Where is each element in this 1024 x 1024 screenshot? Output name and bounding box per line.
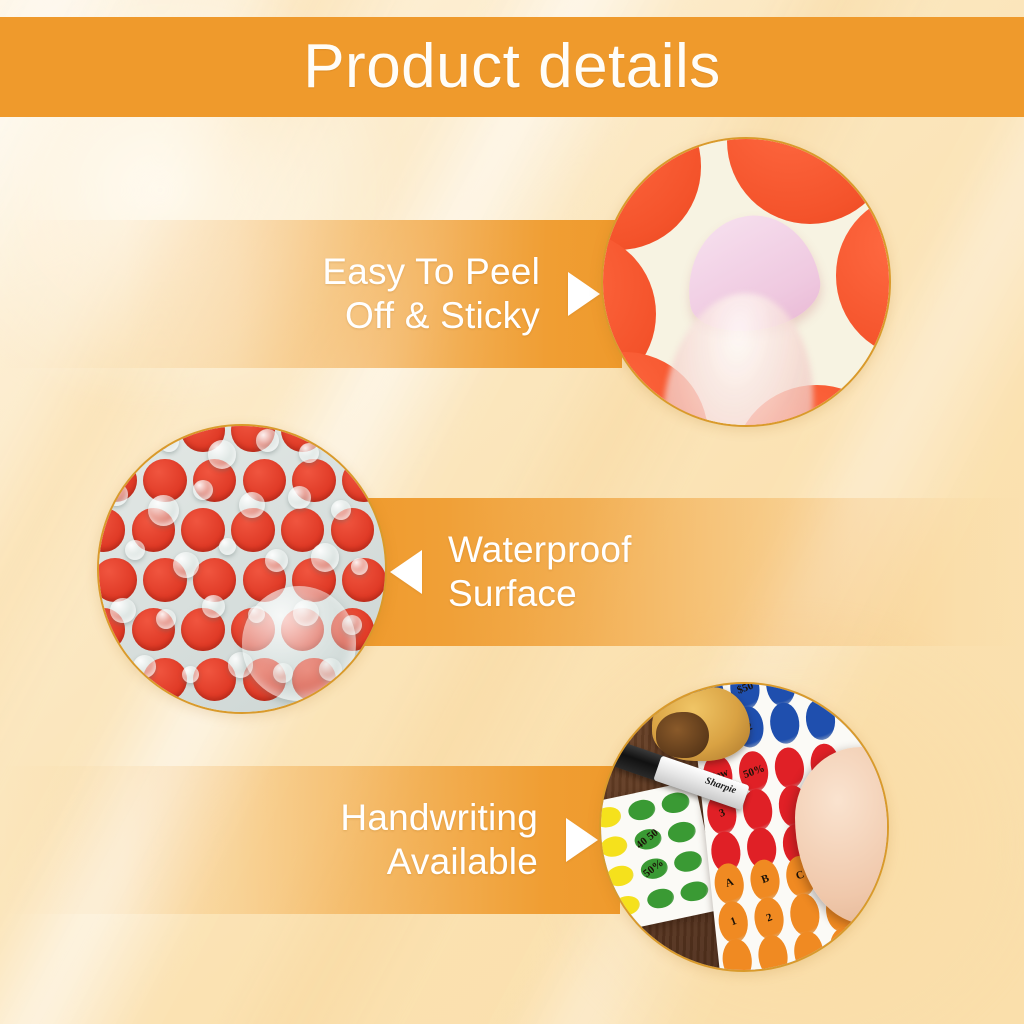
sticker-dot (768, 702, 801, 746)
sticker-dot (604, 864, 635, 889)
handwritten-label: B (760, 874, 771, 887)
handwritten-label: 3 (718, 808, 727, 820)
sticker-dot (672, 850, 703, 875)
feature-label-handwriting-available: Handwriting Available (340, 796, 538, 883)
peeling-sticker-photo (601, 137, 891, 427)
sticker-dot: 1 (717, 900, 750, 944)
page-title-bar: Product details (0, 17, 1024, 117)
water-droplet (148, 495, 179, 526)
product-details-infographic: Product details Easy To Peel Off & Stick… (0, 0, 1024, 1024)
sticker-dot (803, 698, 836, 742)
triangle-right-icon (568, 272, 600, 316)
feature-band-easy-to-peel: Easy To Peel Off & Sticky (0, 220, 622, 368)
sticker-dot (788, 893, 821, 937)
feature-label-waterproof-surface: Waterproof Surface (448, 528, 632, 615)
sticker-dot (721, 938, 754, 972)
feature-label-easy-to-peel: Easy To Peel Off & Sticky (322, 250, 540, 337)
handwritten-label: 2 (765, 913, 774, 925)
waterproof-dot (97, 658, 137, 701)
waterproof-dot (342, 459, 385, 502)
waterproof-droplets-photo (97, 424, 387, 714)
water-droplet (202, 595, 225, 618)
toy-lion-figure (652, 687, 749, 761)
water-droplet (265, 549, 288, 572)
water-droplet (159, 432, 179, 452)
handwritten-label: 1 (729, 916, 738, 928)
sticker-dot (626, 798, 657, 823)
sticker-dot (679, 879, 710, 904)
handwritten-label: $50 (735, 682, 754, 697)
sticker-dot: 50% (638, 857, 669, 882)
sticker-dot (828, 927, 861, 971)
water-droplet (351, 558, 368, 575)
sticker-dot (601, 137, 701, 250)
triangle-right-icon (566, 818, 598, 862)
water-droplet (219, 538, 236, 555)
water-droplet (133, 655, 156, 678)
water-droplet (239, 492, 265, 518)
water-droplet (339, 435, 365, 461)
sticker-dot (660, 790, 691, 815)
sticker-dot (757, 935, 790, 972)
sticker-dot (861, 372, 891, 427)
triangle-left-icon (390, 550, 422, 594)
handwritten-label: 40 50 (634, 828, 660, 852)
feature-label-line2: Available (340, 840, 538, 884)
sticker-dot: B (749, 858, 782, 902)
waterproof-dot (97, 508, 125, 551)
page-title: Product details (303, 36, 721, 98)
water-droplet (256, 429, 279, 452)
feature-band-handwriting-available: Handwriting Available (0, 766, 620, 914)
water-droplet (173, 552, 199, 578)
water-droplet (105, 483, 128, 506)
waterproof-dot (97, 558, 137, 601)
sticker-dot: A (713, 862, 746, 906)
sticker-dot (666, 820, 697, 845)
sticker-dot (599, 901, 608, 926)
toy-lion-mane (656, 712, 709, 758)
handwritten-label: 50% (741, 763, 765, 781)
handwriting-dots-photo: 240 50one50% 50%$5012New50%3ABC12 Sharpi… (599, 682, 889, 972)
sticker-dot (599, 805, 623, 830)
sticker-dot (836, 192, 891, 359)
sticker-dot (611, 894, 642, 919)
sticker-dot (599, 834, 629, 859)
water-droplet (331, 500, 351, 520)
water-droplet (125, 540, 145, 560)
sticker-dot: 40 50 (632, 827, 663, 852)
feature-label-line2: Off & Sticky (322, 294, 540, 338)
water-droplet (311, 543, 340, 572)
water-droplet (116, 437, 142, 463)
large-water-droplet (242, 586, 356, 700)
sticker-dot (645, 886, 676, 911)
water-droplet (208, 440, 237, 469)
water-droplet (288, 486, 311, 509)
handwritten-label: 50% (642, 858, 666, 880)
feature-label-line1: Waterproof (448, 528, 632, 572)
handwritten-label: A (724, 878, 735, 891)
water-droplet (110, 598, 136, 624)
feature-label-line1: Handwriting (340, 796, 538, 840)
feature-label-line2: Surface (448, 572, 632, 616)
sticker-dot (792, 931, 825, 972)
feature-band-waterproof-surface: Waterproof Surface (352, 498, 1024, 646)
sticker-dot: 2 (753, 896, 786, 940)
sticker-dot (773, 746, 806, 790)
feature-label-line1: Easy To Peel (322, 250, 540, 294)
